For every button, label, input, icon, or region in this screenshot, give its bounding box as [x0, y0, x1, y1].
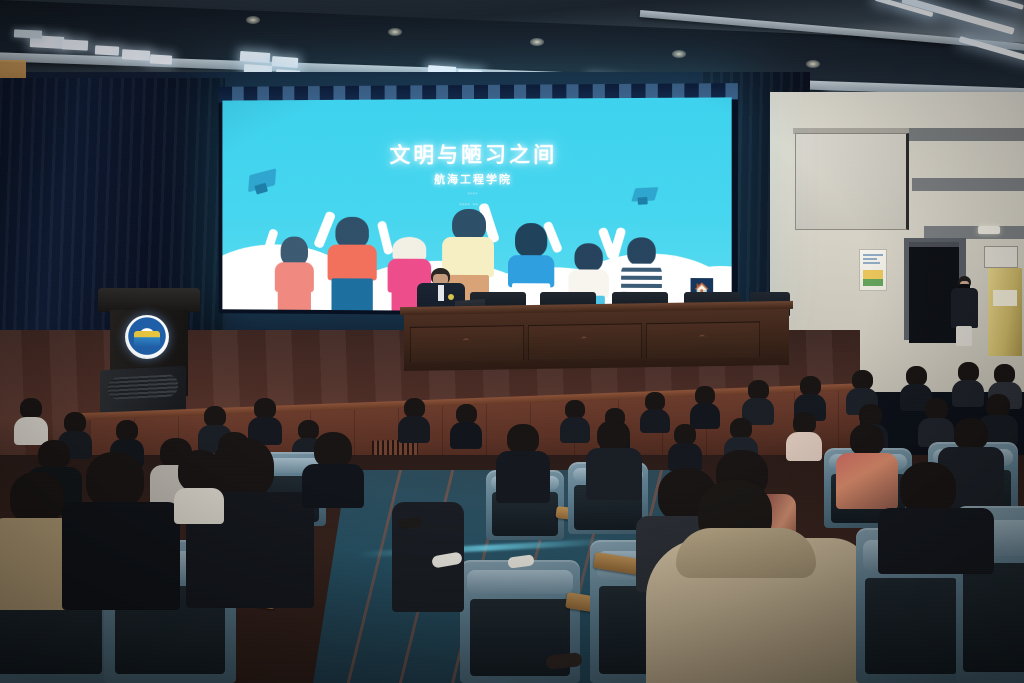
wall-stripe: [912, 178, 1024, 191]
auditorium-photo: 文明与陋习之间 航海工程学院 •••• •••• ••.•• 🏠: [0, 0, 1024, 683]
tan-hoodie-attendee: [646, 480, 866, 683]
side-projection-screen: [795, 133, 909, 230]
audience-member: [786, 412, 822, 460]
cartoon-figure: [273, 223, 318, 313]
audience-member: [878, 462, 988, 566]
ceiling-downlight: [246, 16, 260, 24]
slide-title: 文明与陋习之间: [222, 138, 731, 169]
ceiling-downlight: [388, 28, 402, 36]
table-panel: [410, 325, 524, 363]
monitor-grill: [108, 374, 178, 400]
slide-subtitle: 航海工程学院: [222, 171, 731, 188]
audience-member: [62, 452, 172, 602]
ceiling-light-panel: [240, 51, 271, 63]
audience-member: [690, 386, 720, 428]
yellow-cabinet[interactable]: [988, 268, 1022, 356]
ceiling-downlight: [806, 60, 820, 68]
standing-photographer: [947, 276, 981, 346]
hoodie-collar: [676, 528, 816, 578]
cabinet-label: [993, 290, 1017, 306]
speaker-tie: [438, 285, 444, 301]
ceiling-light-panel: [150, 54, 173, 64]
cartoon-figure: [326, 211, 381, 313]
ceiling-light-panel: [62, 39, 88, 50]
wall-sign: [984, 246, 1018, 268]
audience-member: [668, 424, 702, 470]
led-screen[interactable]: 文明与陋习之间 航海工程学院 •••• •••• ••.•• 🏠: [219, 83, 738, 317]
ceiling-downlight: [530, 38, 544, 46]
slide-meta-line-1: ••••: [222, 191, 731, 196]
audience-member: [14, 398, 48, 444]
school-emblem-icon: [125, 315, 169, 359]
podium-top: [98, 288, 200, 312]
ceiling-light-panel: [122, 49, 151, 61]
photographer-body: [951, 288, 978, 328]
audience-member: [496, 424, 548, 502]
table-panel: [528, 323, 642, 361]
audience-member: [450, 404, 482, 448]
wall-stripe: [898, 128, 1024, 141]
conference-table: [404, 307, 789, 371]
audience-member: [586, 420, 638, 498]
audience-member: [640, 392, 670, 432]
ceiling-downlight: [672, 50, 686, 58]
audience-member: [178, 450, 238, 510]
table-panel: [646, 321, 760, 359]
photographer-legs: [956, 326, 972, 346]
audience-member: [302, 432, 362, 502]
slide-surface: 文明与陋习之间 航海工程学院 •••• •••• ••.•• 🏠: [222, 97, 731, 312]
audience-member: [398, 398, 430, 442]
wall-poster: [859, 249, 887, 291]
ceiling-light-panel: [14, 29, 42, 38]
speaker-badge: [448, 294, 454, 300]
wall-lamp: [978, 226, 1000, 234]
slide-meta-line-2: •••• ••.••: [222, 202, 731, 208]
ceiling-light-panel: [272, 56, 299, 68]
ceiling-light-panel: [95, 45, 119, 55]
